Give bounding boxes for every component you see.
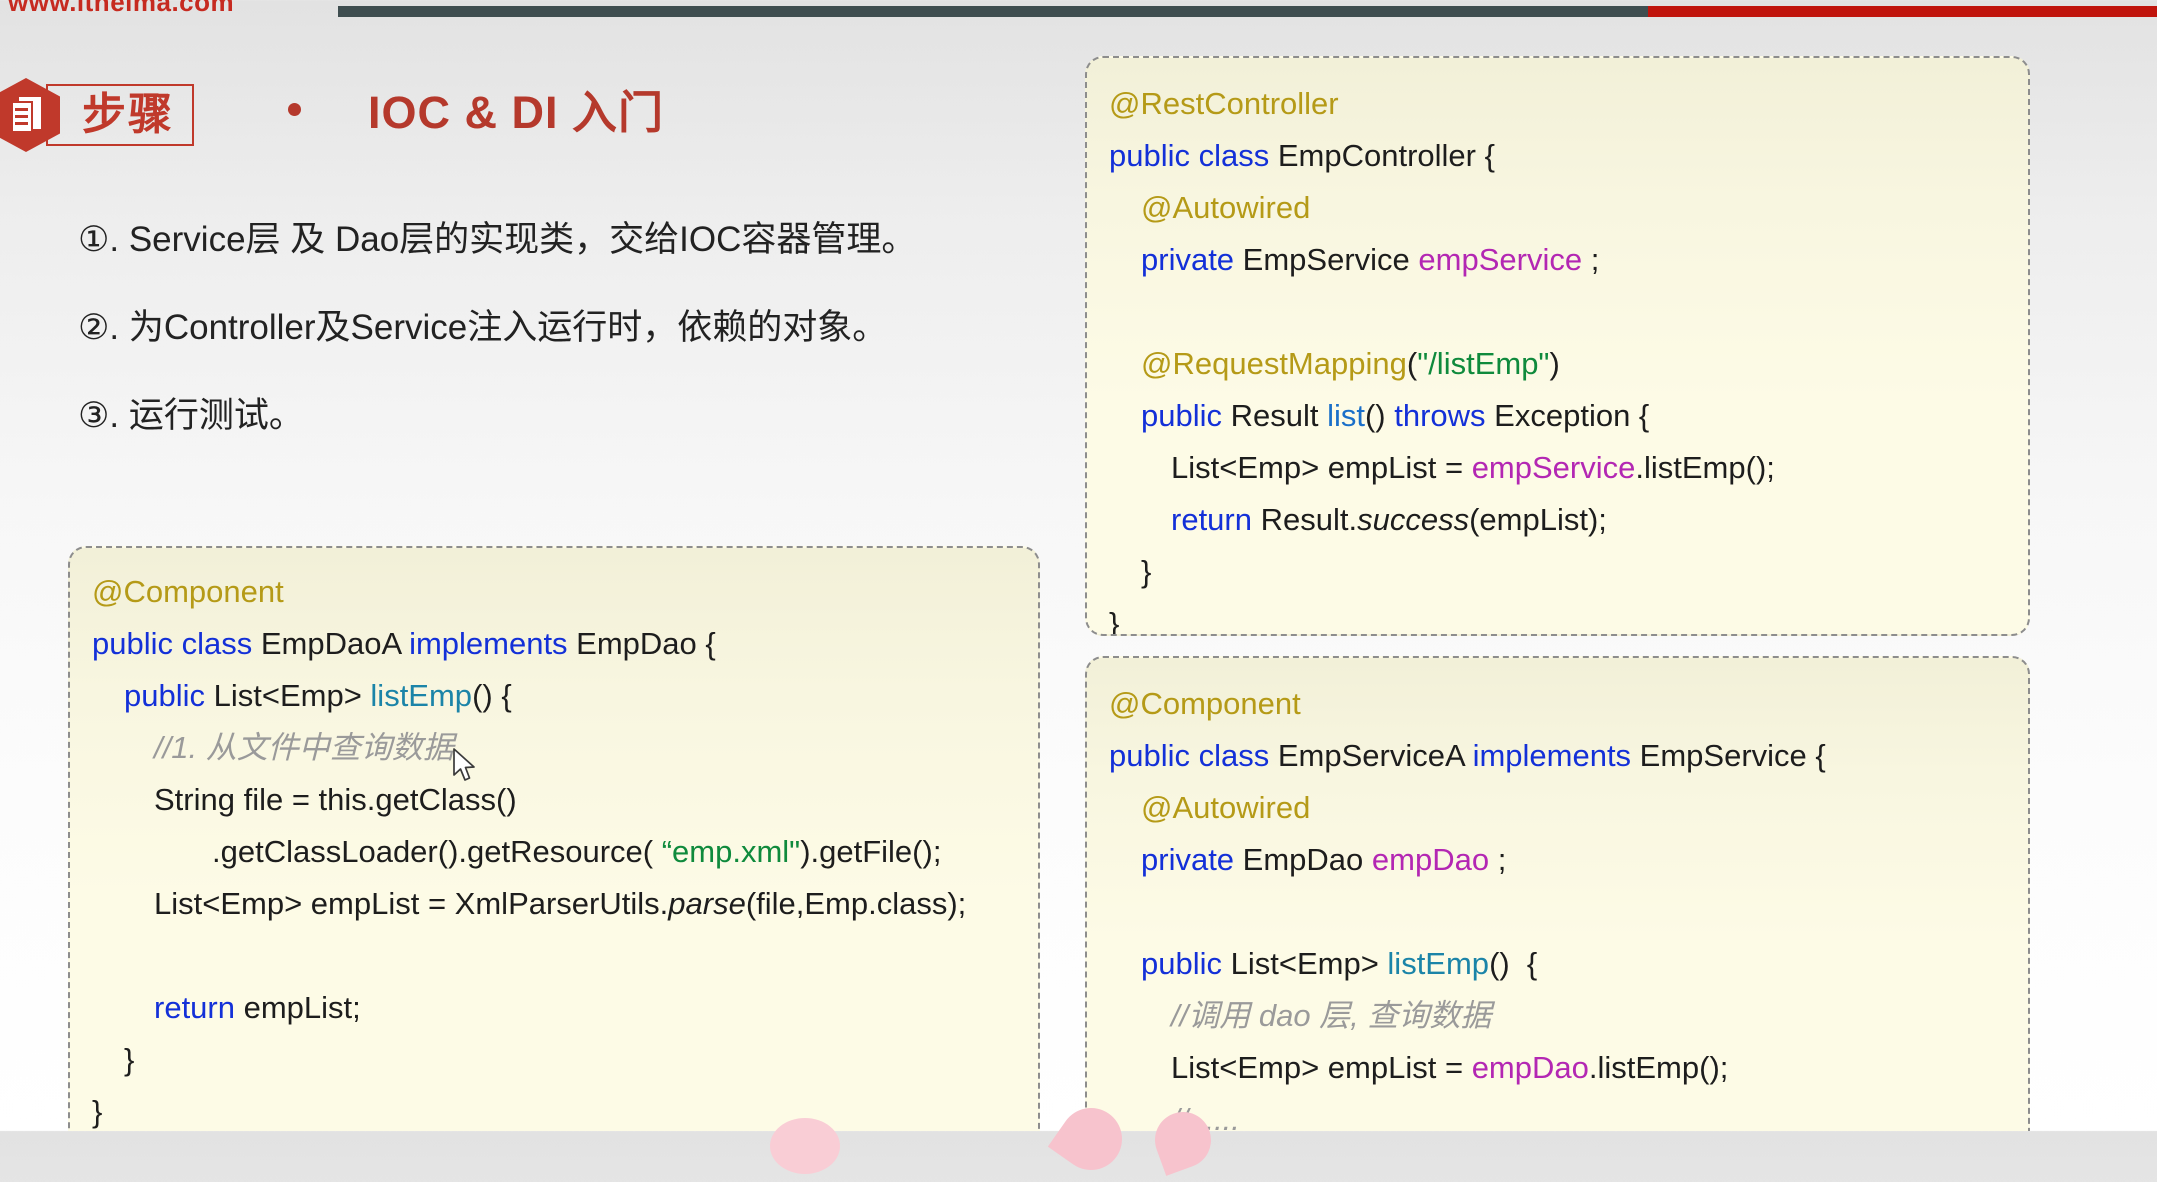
code-line: @RequestMapping("/listEmp") [1109,338,2028,390]
code-token: () { [472,678,512,713]
code-token: “emp.xml" [662,834,800,869]
code-block-dao: @Componentpublic class EmpDaoA implement… [68,546,1040,1131]
code-token: list [1327,398,1365,433]
code-token: empDao [1472,1050,1589,1085]
code-token: List<Emp> [1231,946,1388,981]
code-token: "/listEmp" [1417,346,1549,381]
code-token: EmpDao [1243,842,1372,877]
code-token: @RequestMapping [1141,346,1407,381]
code-line: private EmpService empService ; [1109,234,2028,286]
code-line: public List<Emp> listEmp() { [92,670,1038,722]
code-token: parse [668,886,746,921]
code-token: (file,Emp.class); [746,886,966,921]
code-token: throws [1394,398,1494,433]
code-token: //1. 从文件中查询数据 [154,730,454,765]
list-item: ①. Service层 及 Dao层的实现类，交给IOC容器管理。 [78,222,998,257]
code-line: List<Emp> empList = empService.listEmp()… [1109,442,2028,494]
code-line: public class EmpDaoA implements EmpDao { [92,618,1038,670]
code-line: @Autowired [1109,782,2028,834]
code-token: public [1141,946,1231,981]
code-line: .getClassLoader().getResource( “emp.xml"… [92,826,1038,878]
step-label: 步骤 [82,93,174,137]
code-token: EmpService [1243,242,1419,277]
code-token: implements [409,626,576,661]
code-token: public class [1109,138,1278,173]
code-line: } [92,1034,1038,1086]
code-token: implements [1473,738,1640,773]
code-token: .getClassLoader().getResource( [212,834,662,869]
code-token: empList; [244,990,361,1025]
slide-progress-track[interactable] [338,6,2157,17]
code-token: List<Emp> empList = [1171,1050,1472,1085]
code-token: .listEmp(); [1635,450,1775,485]
code-line: return Result.success(empList); [1109,494,2028,546]
code-token: @Autowired [1141,190,1310,225]
slide-header: 步骤 IOC & DI 入门 [0,78,900,152]
code-block-service: @Componentpublic class EmpServiceA imple… [1085,656,2030,1131]
code-token: } [92,1094,102,1129]
code-line: @Component [1109,678,2028,730]
code-token: public [124,678,214,713]
code-token: empDao [1372,842,1489,877]
code-token: (empList); [1469,502,1607,537]
code-line: List<Emp> empList = empDao.listEmp(); [1109,1042,2028,1094]
code-line [92,930,1038,982]
code-line: List<Emp> empList = XmlParserUtils.parse… [92,878,1038,930]
slide-progress-fill [338,6,1648,17]
code-token: EmpService { [1640,738,1826,773]
code-token: } [1109,606,1119,636]
code-token: listEmp [1387,946,1489,981]
code-token: List<Emp> [214,678,371,713]
code-token: public class [1109,738,1278,773]
code-token: //调用 dao 层, 查询数据 [1171,998,1491,1033]
page-title: IOC & DI 入门 [368,76,664,141]
code-line [1109,886,2028,938]
code-line: //调用 dao 层, 查询数据 [1109,990,2028,1042]
code-token: ; [1489,842,1506,877]
code-token: ; [1582,242,1599,277]
code-token: Exception { [1494,398,1649,433]
code-line: return empList; [92,982,1038,1034]
code-token: .listEmp(); [1589,1050,1729,1085]
code-token: success [1357,502,1469,537]
code-body: @Componentpublic class EmpServiceA imple… [1087,658,2028,1131]
code-line: public class EmpController { [1109,130,2028,182]
code-token: private [1141,242,1243,277]
code-token: } [124,1042,134,1077]
steps-list: ①. Service层 及 Dao层的实现类，交给IOC容器管理。 ②. 为Co… [78,222,998,486]
code-token: return [154,990,244,1025]
code-token: @Component [1109,686,1301,721]
code-body: @Componentpublic class EmpDaoA implement… [70,548,1038,1131]
code-token: ) [1549,346,1559,381]
code-token: List<Emp> empList = XmlParserUtils. [154,886,668,921]
code-line: //1. 从文件中查询数据 [92,722,1038,774]
code-token: EmpDao { [576,626,716,661]
code-line: @RestController [1109,78,2028,130]
code-line: } [1109,598,2028,636]
code-token: List<Emp> empList = [1171,450,1472,485]
code-token: EmpServiceA [1278,738,1473,773]
title-bullet-icon [288,103,301,116]
code-token: public [1141,398,1231,433]
step-label-box: 步骤 [46,84,194,146]
code-token: private [1141,842,1243,877]
code-line: //...... [1109,1094,2028,1131]
code-token: return [1171,502,1261,537]
code-line [1109,286,2028,338]
code-token: @RestController [1109,86,1339,121]
code-token: Result [1231,398,1327,433]
code-line: @Autowired [1109,182,2028,234]
code-line: } [92,1086,1038,1131]
code-token: () { [1489,946,1537,981]
code-token: ( [1407,346,1417,381]
code-body: @RestControllerpublic class EmpControlle… [1087,58,2028,636]
code-line: public class EmpServiceA implements EmpS… [1109,730,2028,782]
code-token: @Autowired [1141,790,1310,825]
code-line: String file = this.getClass() [92,774,1038,826]
list-item: ③. 运行测试。 [78,398,998,433]
code-token: () [1365,398,1394,433]
code-token: } [1141,554,1151,589]
step-badge: 步骤 [0,78,194,152]
code-token: empService [1418,242,1582,277]
code-line: private EmpDao empDao ; [1109,834,2028,886]
decorative-petal [770,1118,840,1174]
code-token: public class [92,626,261,661]
code-token: @Component [92,574,284,609]
code-token: listEmp [370,678,472,713]
code-token: EmpController { [1278,138,1495,173]
list-item: ②. 为Controller及Service注入运行时，依赖的对象。 [78,310,998,345]
code-token: String file = this.getClass() [154,782,517,817]
code-token: empService [1472,450,1636,485]
code-token: EmpDaoA [261,626,409,661]
document-icon [11,97,41,133]
code-token: Result. [1261,502,1357,537]
code-line: } [1109,546,2028,598]
code-line: @Component [92,566,1038,618]
code-line: public List<Emp> listEmp() { [1109,938,2028,990]
site-watermark: www.itheima.com [8,0,234,18]
code-block-controller: @RestControllerpublic class EmpControlle… [1085,56,2030,636]
code-line: public Result list() throws Exception { [1109,390,2028,442]
code-token: ).getFile(); [800,834,941,869]
